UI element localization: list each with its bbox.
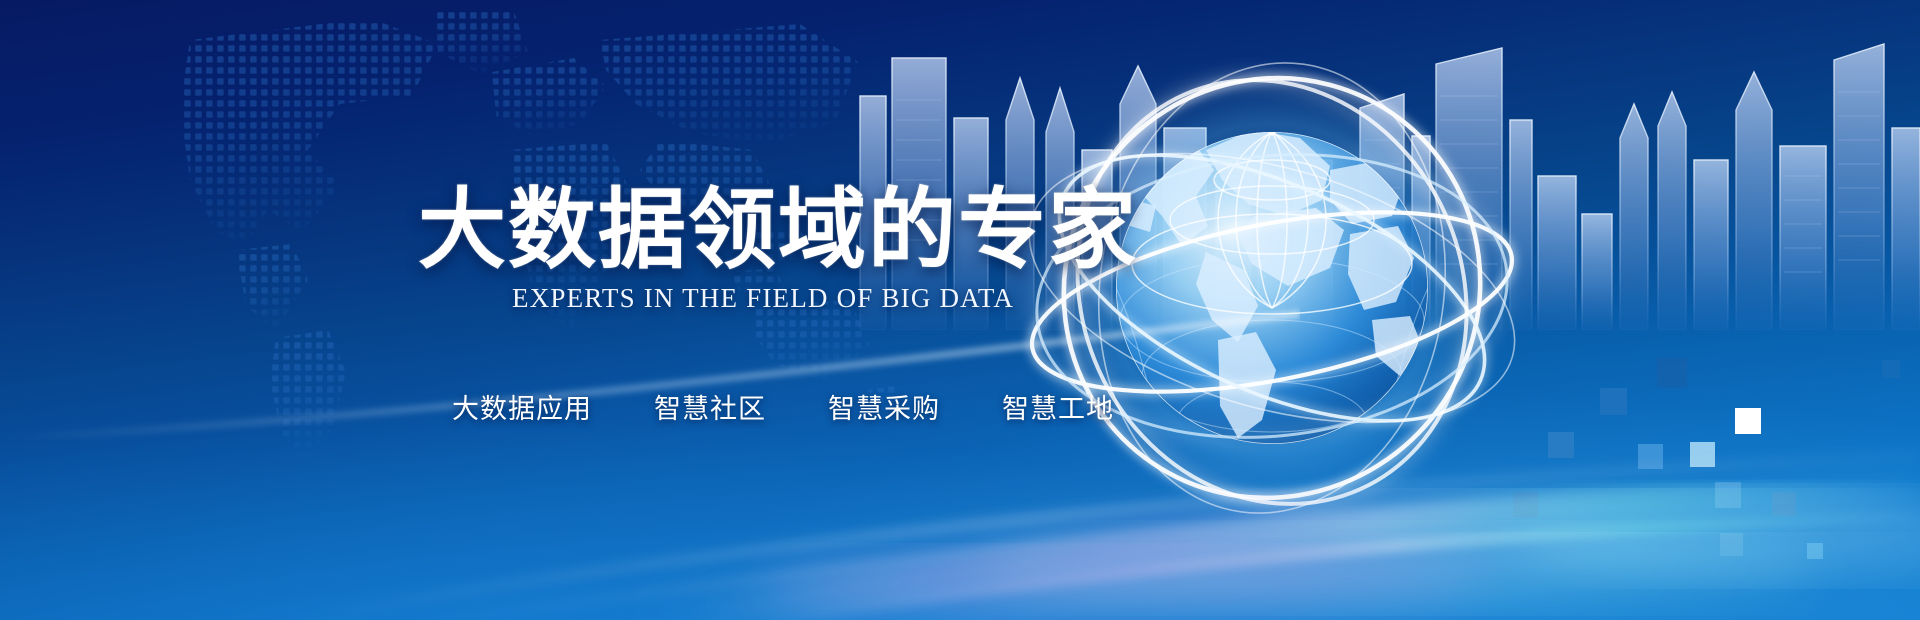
tag-item[interactable]: 智慧社区 bbox=[654, 387, 766, 426]
banner-root: 大数据领域的专家 EXPERTS IN THE FIELD OF BIG DAT… bbox=[0, 0, 1920, 620]
banner-content: 大数据领域的专家 EXPERTS IN THE FIELD OF BIG DAT… bbox=[0, 0, 1920, 620]
tag-item[interactable]: 智慧采购 bbox=[828, 387, 940, 426]
page-title: 大数据领域的专家 bbox=[418, 186, 1138, 274]
page-subtitle: EXPERTS IN THE FIELD OF BIG DATA bbox=[512, 283, 1014, 314]
tag-item[interactable]: 智慧工地 bbox=[1002, 387, 1114, 426]
tag-item[interactable]: 大数据应用 bbox=[452, 387, 592, 426]
tag-list: 大数据应用智慧社区智慧采购智慧工地 bbox=[452, 387, 1114, 426]
